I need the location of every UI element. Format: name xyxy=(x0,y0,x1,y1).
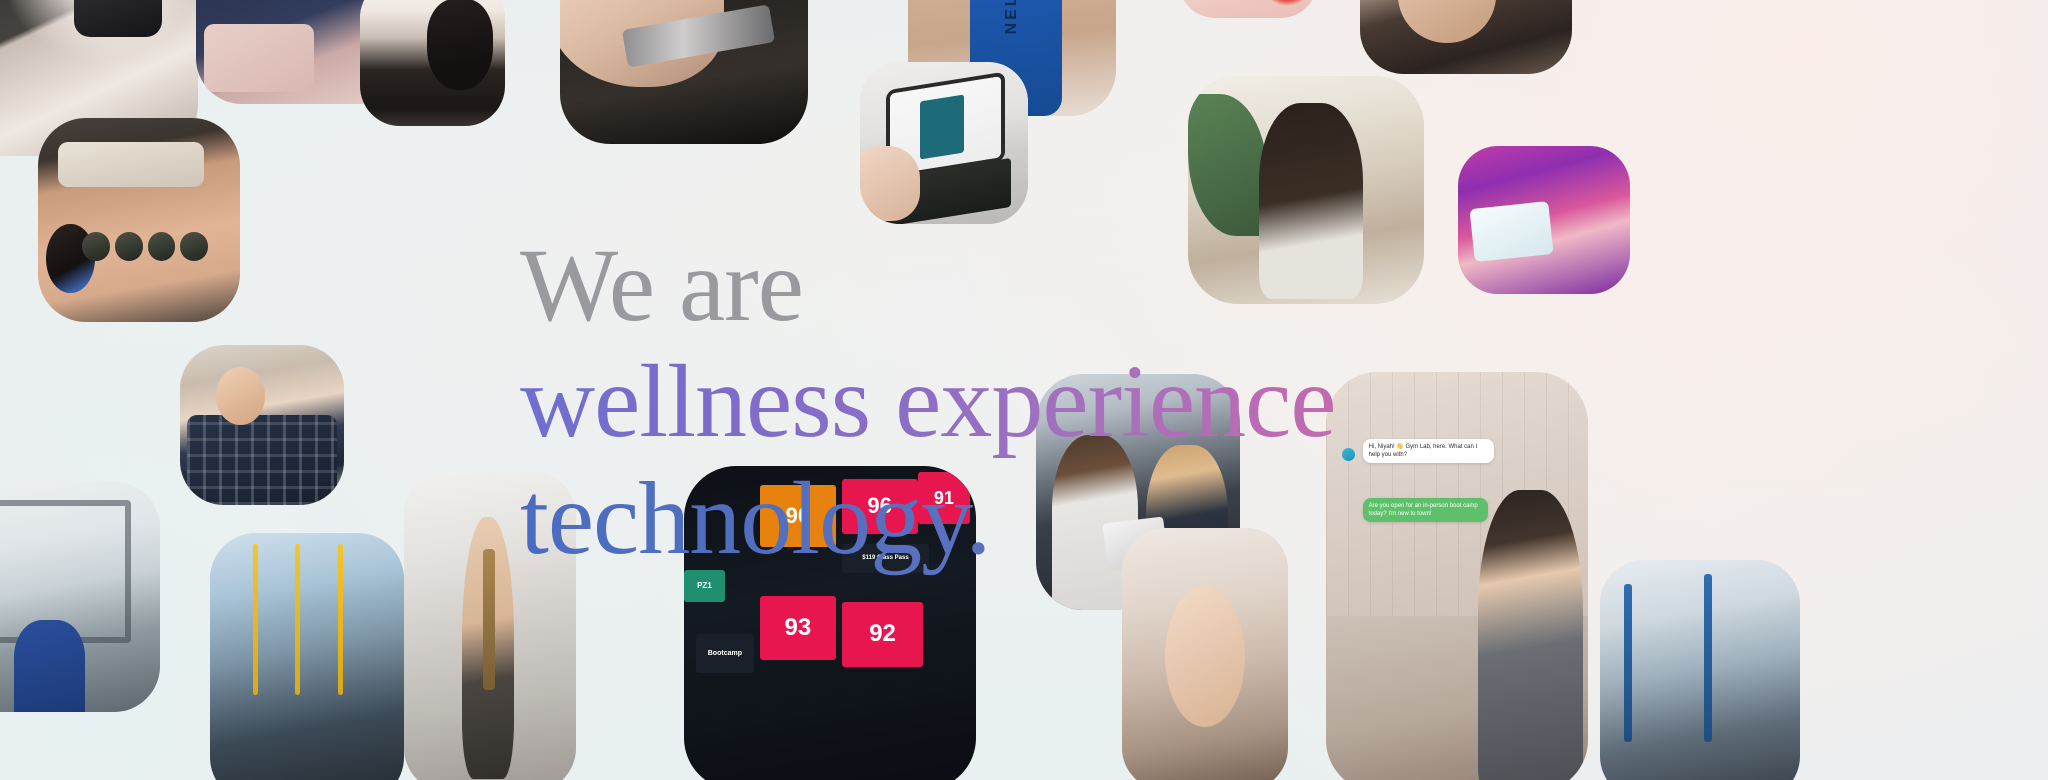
score-value: 92 xyxy=(842,602,924,667)
salon-image xyxy=(360,0,505,126)
collage-tile-facial-treatment xyxy=(1360,0,1572,74)
hand-shape xyxy=(860,146,920,221)
barcode-receipt-image: StudioMix San Francisco xyxy=(560,0,808,144)
laptop-booking-image xyxy=(860,62,1028,224)
collage-tile-strawberries xyxy=(1178,0,1318,18)
page-title: We are wellness experience technology. xyxy=(0,228,2048,577)
facial-treatment-image xyxy=(1360,0,1572,74)
collage-tile-laptop-booking xyxy=(860,62,1028,224)
collage-tile-salon xyxy=(360,0,505,126)
gym-bar-shape xyxy=(1704,574,1712,742)
headline-line-3: technology. xyxy=(520,461,2048,577)
collage-tile-barcode-receipt: StudioMix San Francisco xyxy=(560,0,808,144)
gym-class-image xyxy=(1600,560,1800,780)
hero-section: StudioMix San Francisco NELEUS xyxy=(0,0,2048,780)
athlete-shape xyxy=(14,620,85,712)
towel-shape xyxy=(58,142,203,187)
promo-card xyxy=(920,94,964,159)
neleus-brand-text: NELEUS xyxy=(1003,0,1021,34)
headline-line-1: We are xyxy=(520,228,2048,344)
face-shape xyxy=(1165,586,1245,727)
gym-bar-shape xyxy=(1624,584,1632,742)
score-value: 93 xyxy=(760,596,836,661)
collage-tile-gym-class xyxy=(1600,560,1800,780)
strawberries-image xyxy=(1178,0,1318,18)
score-label: Bootcamp xyxy=(696,634,754,673)
plant-shape xyxy=(1188,94,1268,235)
headline-line-2: wellness experience xyxy=(520,344,2048,460)
